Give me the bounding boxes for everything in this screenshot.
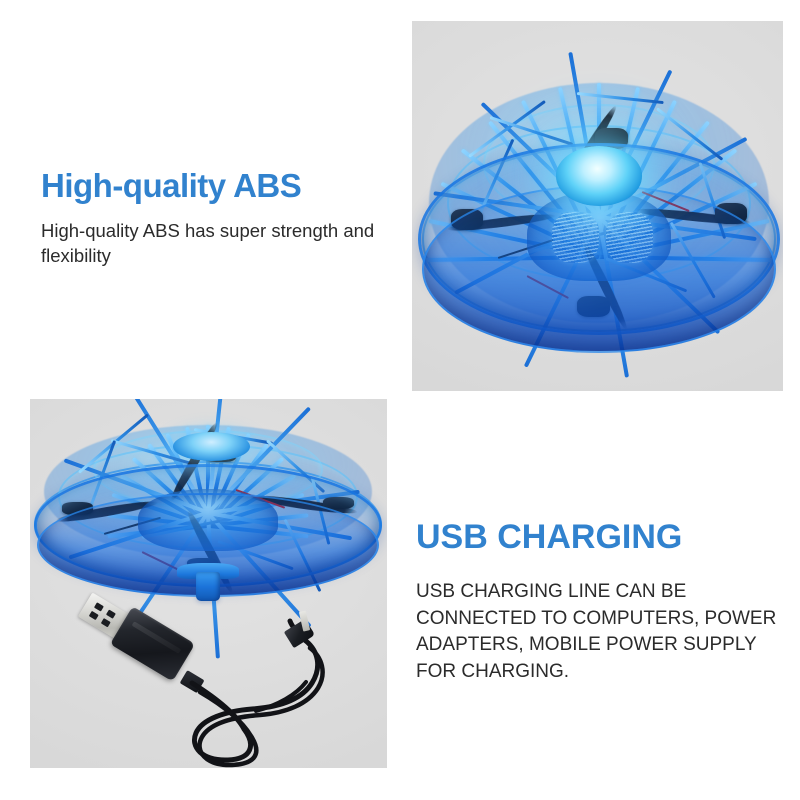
feature-block-usb: USB CHARGING USB CHARGING LINE CAN BE CO… <box>416 517 788 685</box>
usb-charging-cable <box>30 399 387 768</box>
drone-glowing-dome <box>556 146 643 206</box>
product-photo-drone-with-charger <box>30 399 387 768</box>
drone-illustration <box>418 65 780 365</box>
drone-lower-rim <box>422 185 777 353</box>
feature-description-abs: High-quality ABS has super strength and … <box>41 218 391 268</box>
feature-block-abs: High-quality ABS High-quality ABS has su… <box>41 166 391 268</box>
usb-cable-wire <box>30 399 387 768</box>
feature-headline-abs: High-quality ABS <box>41 166 391 206</box>
infographic-canvas: High-quality ABS High-quality ABS has su… <box>0 0 800 800</box>
feature-description-usb: USB CHARGING LINE CAN BE CONNECTED TO CO… <box>416 579 788 685</box>
feature-headline-usb: USB CHARGING <box>416 517 788 557</box>
product-photo-drone-top <box>412 21 783 391</box>
